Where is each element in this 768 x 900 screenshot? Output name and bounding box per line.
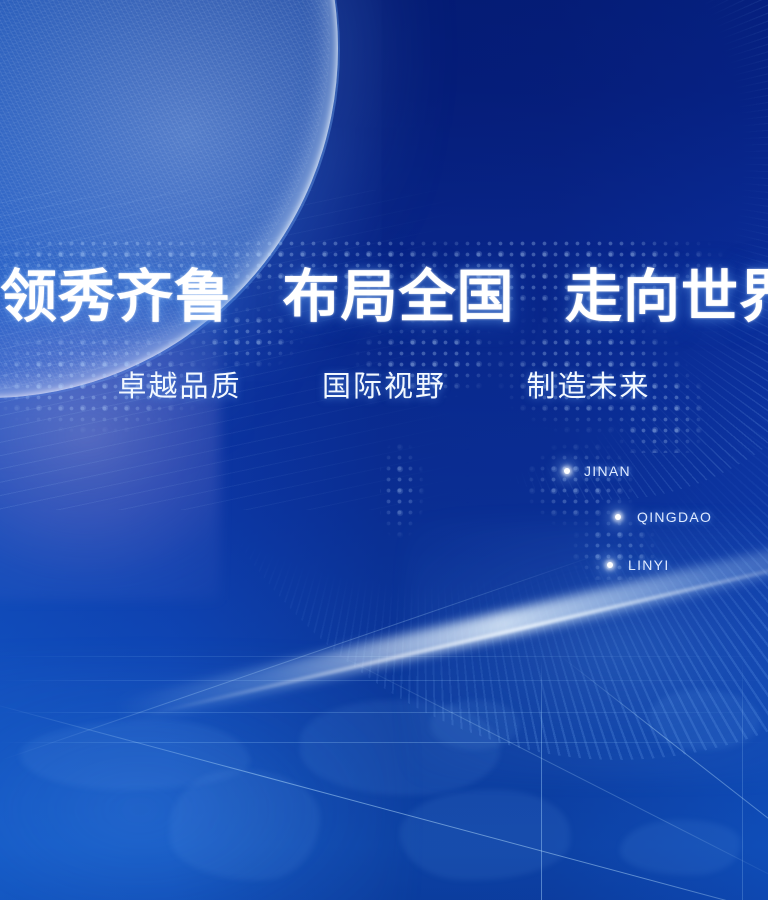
subheadline-segment-3: 制造未来 [527,367,651,407]
city-label-jinan: JINAN [584,463,631,479]
glow-dot-icon [615,514,621,520]
subheadline-segment-2: 国际视野 [322,367,446,407]
corner-glow-right [408,520,768,780]
hero-banner: 领秀齐鲁 布局全国 走向世界 卓越品质 国际视野 制造未来 JINAN QING… [0,0,768,900]
subheadline: 卓越品质 国际视野 制造未来 [0,367,768,407]
city-label-linyi: LINYI [628,557,670,573]
glow-dot-icon [564,468,570,474]
city-label-qingdao: QINGDAO [637,509,712,525]
corner-glow-left [0,660,400,900]
subheadline-segment-1: 卓越品质 [117,367,241,407]
headline-segment-1: 领秀齐鲁 [0,267,232,329]
headline: 领秀齐鲁 布局全国 走向世界 [0,267,768,329]
headline-segment-3: 走向世界 [565,267,768,329]
glow-dot-icon [607,562,613,568]
headline-segment-2: 布局全国 [283,267,515,329]
